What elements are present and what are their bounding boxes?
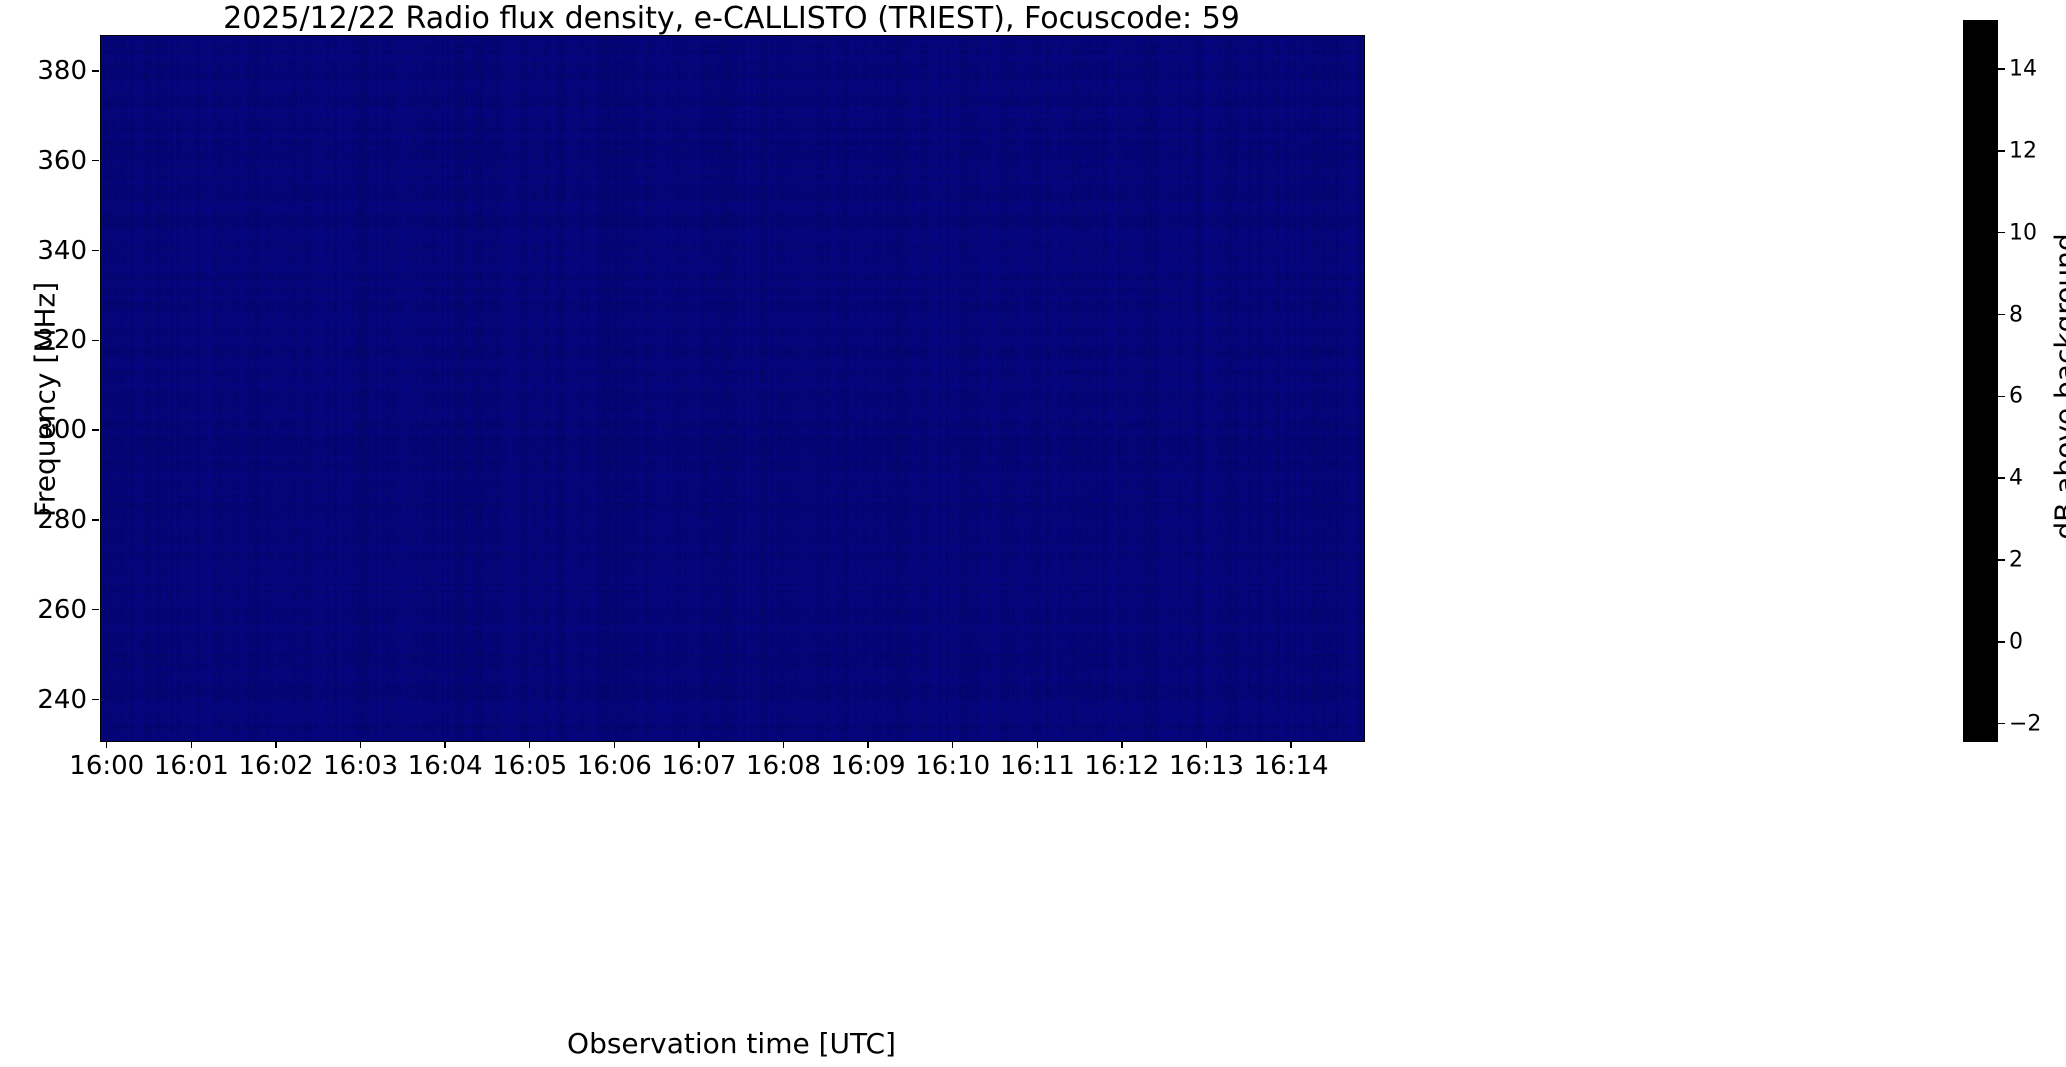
x-tick-label: 16:07 <box>661 751 736 781</box>
x-tick-label: 16:01 <box>154 751 229 781</box>
y-tick-mark <box>92 429 99 430</box>
x-axis-ticks: 16:0016:0116:0216:0316:0416:0516:0616:07… <box>0 741 2066 801</box>
x-tick-label: 16:03 <box>323 751 398 781</box>
colorbar-tick-label: 10 <box>2009 220 2037 245</box>
colorbar-tick-label: 8 <box>2009 302 2023 327</box>
x-tick-mark <box>614 741 615 748</box>
colorbar-tick-mark <box>1998 150 2005 151</box>
x-tick-label: 16:04 <box>408 751 483 781</box>
x-tick-label: 16:00 <box>69 751 144 781</box>
colorbar-tick-label: 14 <box>2009 57 2037 82</box>
x-tick-mark <box>698 741 699 748</box>
x-tick-mark <box>867 741 868 748</box>
colorbar-tick-mark <box>1998 477 2005 478</box>
x-tick-mark <box>1290 741 1291 748</box>
x-tick-label: 16:05 <box>492 751 567 781</box>
x-tick-mark <box>360 741 361 748</box>
colorbar-tick-label: 4 <box>2009 466 2023 491</box>
y-tick-mark <box>92 340 99 341</box>
y-axis-label: Frequency [MHz] <box>29 47 62 753</box>
colorbar-label: dB above background <box>2049 57 2066 717</box>
x-tick-label: 16:14 <box>1254 751 1329 781</box>
x-tick-mark <box>529 741 530 748</box>
x-tick-mark <box>106 741 107 748</box>
x-tick-mark <box>783 741 784 748</box>
x-tick-mark <box>1037 741 1038 748</box>
page-title: 2025/12/22 Radio flux density, e-CALLIST… <box>100 2 1363 36</box>
colorbar-tick-mark <box>1998 641 2005 642</box>
x-tick-label: 16:08 <box>746 751 821 781</box>
colorbar-tick-label: 0 <box>2009 629 2023 654</box>
colorbar-tick-label: 2 <box>2009 548 2023 573</box>
x-tick-mark <box>275 741 276 748</box>
x-axis-label: Observation time [UTC] <box>100 1027 1363 1060</box>
y-tick-mark <box>92 160 99 161</box>
x-tick-mark <box>1206 741 1207 748</box>
spectrogram-plot-area[interactable] <box>100 35 1365 742</box>
x-tick-label: 16:13 <box>1169 751 1244 781</box>
x-tick-mark <box>1121 741 1122 748</box>
x-tick-label: 16:02 <box>238 751 313 781</box>
colorbar-tick-mark <box>1998 723 2005 724</box>
x-tick-mark <box>952 741 953 748</box>
x-tick-label: 16:11 <box>1000 751 1075 781</box>
x-tick-mark <box>191 741 192 748</box>
colorbar-tick-label: −2 <box>2009 711 2041 736</box>
spectrogram-image <box>101 36 1364 741</box>
x-tick-label: 16:06 <box>577 751 652 781</box>
x-tick-mark <box>444 741 445 748</box>
colorbar-tick-mark <box>1998 314 2005 315</box>
x-tick-label: 16:09 <box>831 751 906 781</box>
y-tick-mark <box>92 609 99 610</box>
colorbar-tick-mark <box>1998 68 2005 69</box>
y-tick-mark <box>92 519 99 520</box>
colorbar-tick-mark <box>1998 396 2005 397</box>
y-tick-mark <box>92 250 99 251</box>
figure-canvas: 2025/12/22 Radio flux density, e-CALLIST… <box>0 0 2066 1067</box>
colorbar-tick-label: 12 <box>2009 138 2037 163</box>
y-tick-mark <box>92 699 99 700</box>
colorbar-tick-label: 6 <box>2009 384 2023 409</box>
colorbar-tick-mark <box>1998 559 2005 560</box>
colorbar-tick-mark <box>1998 232 2005 233</box>
x-tick-label: 16:12 <box>1084 751 1159 781</box>
x-tick-label: 16:10 <box>915 751 990 781</box>
y-tick-mark <box>92 70 99 71</box>
